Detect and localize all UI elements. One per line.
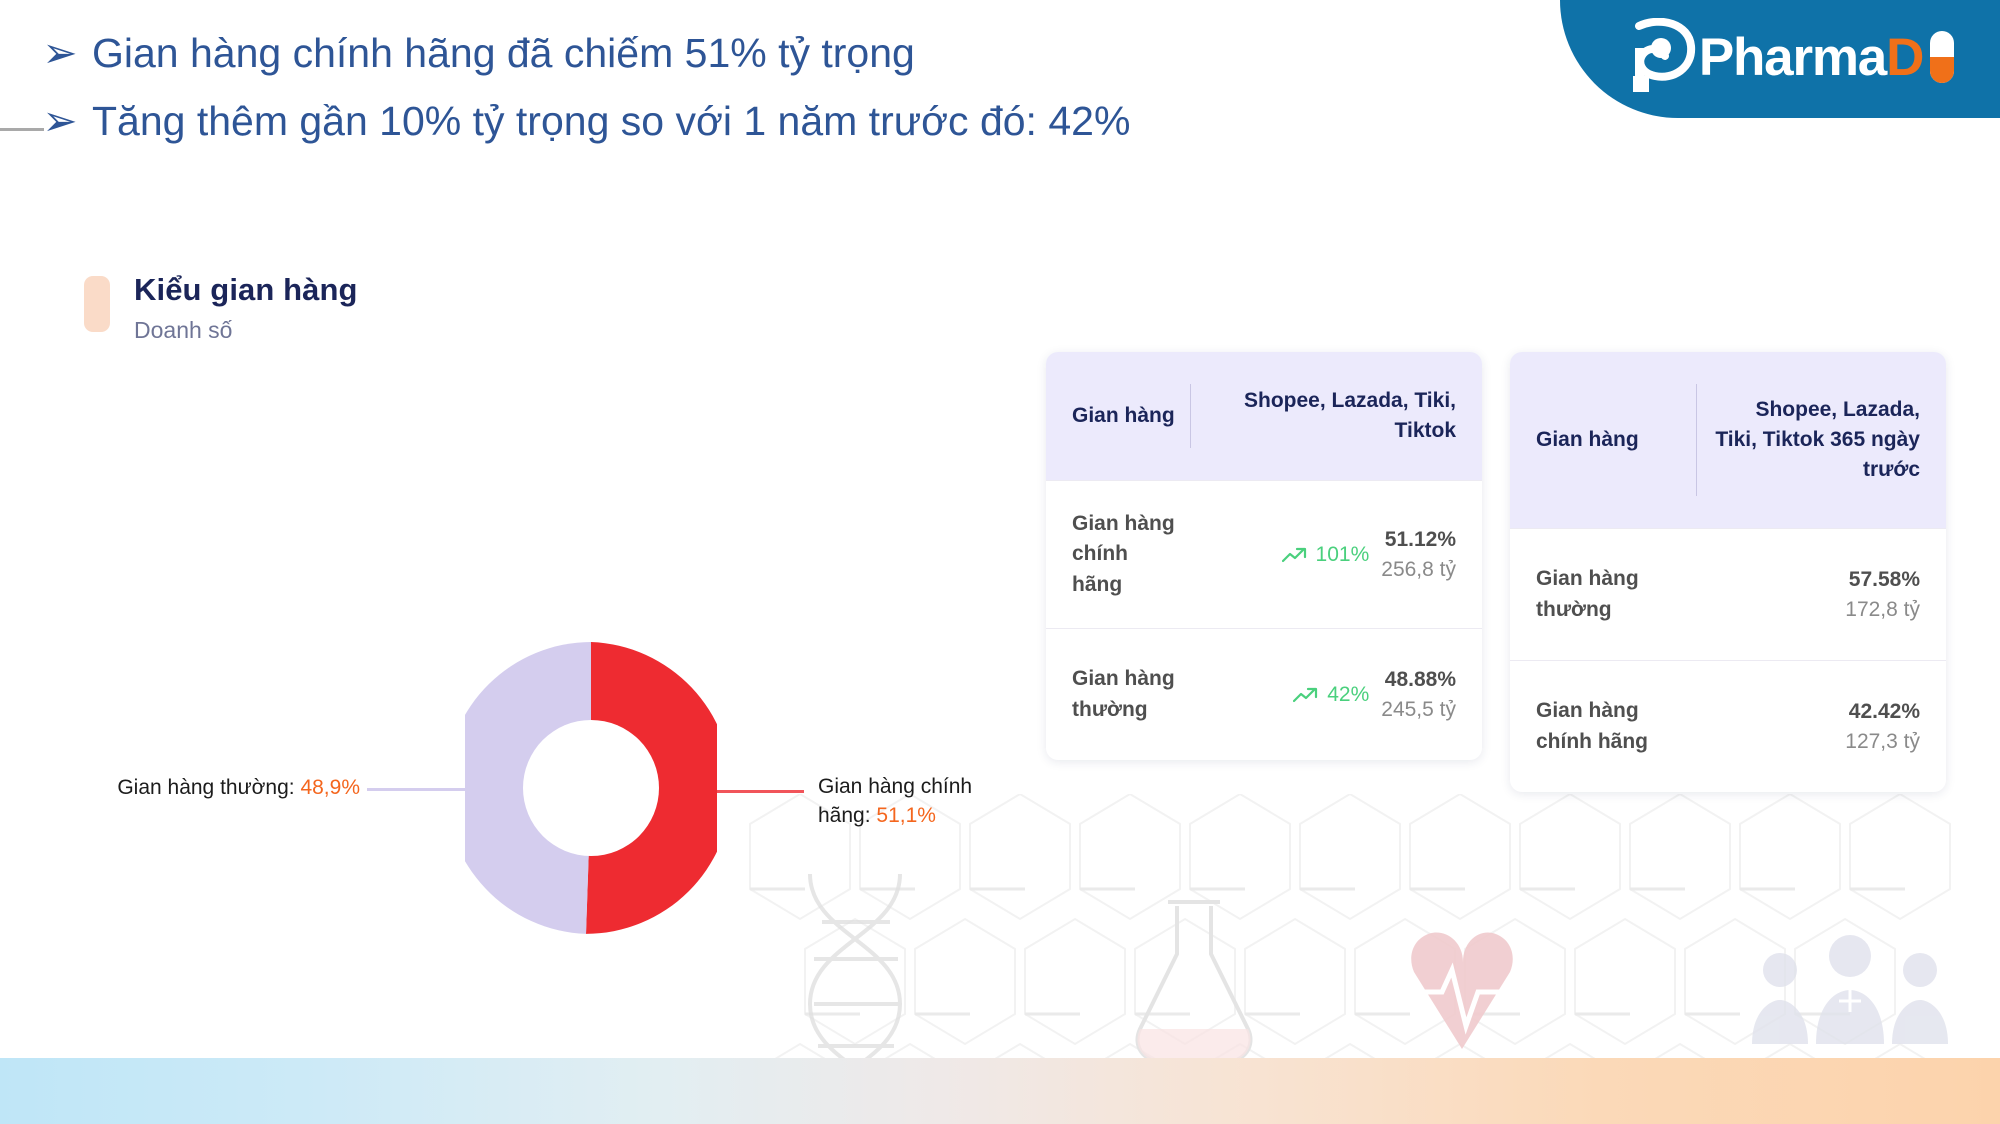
pie-label-gian-hang-thuong: Gian hàng thường: 48,9%	[88, 774, 360, 803]
pie-label-left-value: 48,9%	[300, 776, 360, 799]
row-values: 57.58% 172,8 tỷ	[1686, 568, 1920, 622]
value-block: 51.12% 256,8 tỷ	[1381, 528, 1456, 582]
pharmad-p-icon	[1627, 18, 1697, 96]
pie-label-left-text: Gian hàng thường:	[117, 776, 294, 799]
table-row[interactable]: Gian hàng thường 42% 48.88% 245,5 tỷ	[1046, 628, 1482, 760]
logo-wordmark: PharmaD	[1699, 31, 1923, 84]
logo-text-main: Pharma	[1699, 28, 1886, 87]
bullet-item-2: ➢ Tăng thêm gần 10% tỷ trọng so với 1 nă…	[42, 90, 1522, 152]
value-percent: 48.88%	[1381, 668, 1456, 692]
bottom-gradient-bar	[0, 1058, 2000, 1124]
value-amount: 172,8 tỷ	[1845, 598, 1920, 622]
leader-line-right	[712, 790, 804, 793]
pie-label-gian-hang-chinh-hang: Gian hàng chính hãng: 51,1%	[818, 773, 1028, 831]
table-row[interactable]: Gian hàng chính hãng 42.42% 127,3 tỷ	[1510, 660, 1946, 792]
value-percent: 42.42%	[1845, 700, 1920, 724]
trend-indicator: 42%	[1293, 683, 1369, 707]
row-values: 42% 48.88% 245,5 tỷ	[1178, 668, 1456, 722]
trend-value: 42%	[1327, 683, 1369, 707]
value-block: 57.58% 172,8 tỷ	[1845, 568, 1920, 622]
slide-root: PharmaD ➢ Gian hàng chính hãng đã chiếm …	[0, 0, 2000, 1124]
pill-capsule-icon	[1927, 29, 1957, 85]
row-label: Gian hàng thường	[1536, 564, 1686, 625]
trend-indicator: 101%	[1282, 543, 1370, 567]
table-row[interactable]: Gian hàng thường 57.58% 172,8 tỷ	[1510, 528, 1946, 660]
row-values: 101% 51.12% 256,8 tỷ	[1178, 528, 1456, 582]
card-header-left: Gian hàng	[1536, 425, 1688, 455]
donut-chart: Gian hàng thường: 48,9% Gian hàng chính …	[60, 620, 1060, 960]
value-block: 48.88% 245,5 tỷ	[1381, 668, 1456, 722]
bullet-item-1: ➢ Gian hàng chính hãng đã chiếm 51% tỷ t…	[42, 22, 1522, 84]
stat-tables: Gian hàng Shopee, Lazada, Tiki, Tiktok G…	[1046, 352, 1946, 792]
card-header: Gian hàng Shopee, Lazada, Tiki, Tiktok 3…	[1510, 352, 1946, 528]
arrow-bullet-icon: ➢	[42, 90, 78, 152]
value-percent: 57.58%	[1845, 568, 1920, 592]
row-label: Gian hàng thường	[1072, 664, 1178, 725]
trend-up-icon	[1282, 546, 1308, 564]
donut-center-hole	[523, 720, 659, 856]
header-divider	[1696, 384, 1697, 496]
left-decorative-rule	[0, 128, 44, 131]
leader-line-left	[367, 788, 465, 791]
value-amount: 127,3 tỷ	[1845, 730, 1920, 754]
stat-card-previous: Gian hàng Shopee, Lazada, Tiki, Tiktok 3…	[1510, 352, 1946, 792]
value-amount: 256,8 tỷ	[1381, 558, 1456, 582]
page-subtitle: Doanh số	[134, 317, 358, 344]
value-percent: 51.12%	[1381, 528, 1456, 552]
card-header-left: Gian hàng	[1072, 401, 1182, 431]
trend-value: 101%	[1316, 543, 1370, 567]
donut-ring	[465, 642, 717, 934]
row-label: Gian hàng chính hãng	[1072, 509, 1178, 600]
header-divider	[1190, 384, 1191, 448]
pie-label-right-value: 51,1%	[876, 804, 936, 827]
value-block: 42.42% 127,3 tỷ	[1845, 700, 1920, 754]
section-header: Kiểu gian hàng Doanh số	[84, 272, 358, 344]
row-values: 42.42% 127,3 tỷ	[1686, 700, 1920, 754]
page-title: Kiểu gian hàng	[134, 272, 358, 308]
bullet-list: ➢ Gian hàng chính hãng đã chiếm 51% tỷ t…	[42, 22, 1522, 158]
logo-text-accent: D	[1886, 28, 1923, 87]
card-header-right: Shopee, Lazada, Tiki, Tiktok	[1209, 386, 1456, 446]
brand-logo-badge: PharmaD	[1560, 0, 2000, 118]
card-header: Gian hàng Shopee, Lazada, Tiki, Tiktok	[1046, 352, 1482, 480]
table-row[interactable]: Gian hàng chính hãng 101% 51.12% 256,8 t…	[1046, 480, 1482, 628]
trend-up-icon	[1293, 686, 1319, 704]
card-header-right: Shopee, Lazada, Tiki, Tiktok 365 ngày tr…	[1715, 395, 1920, 484]
stat-card-current: Gian hàng Shopee, Lazada, Tiki, Tiktok G…	[1046, 352, 1482, 760]
arrow-bullet-icon: ➢	[42, 22, 78, 84]
section-accent-chip	[84, 276, 110, 332]
row-label: Gian hàng chính hãng	[1536, 696, 1686, 757]
bullet-text-1: Gian hàng chính hãng đã chiếm 51% tỷ trọ…	[92, 22, 915, 84]
value-amount: 245,5 tỷ	[1381, 698, 1456, 722]
bullet-text-2: Tăng thêm gần 10% tỷ trọng so với 1 năm …	[92, 90, 1130, 152]
